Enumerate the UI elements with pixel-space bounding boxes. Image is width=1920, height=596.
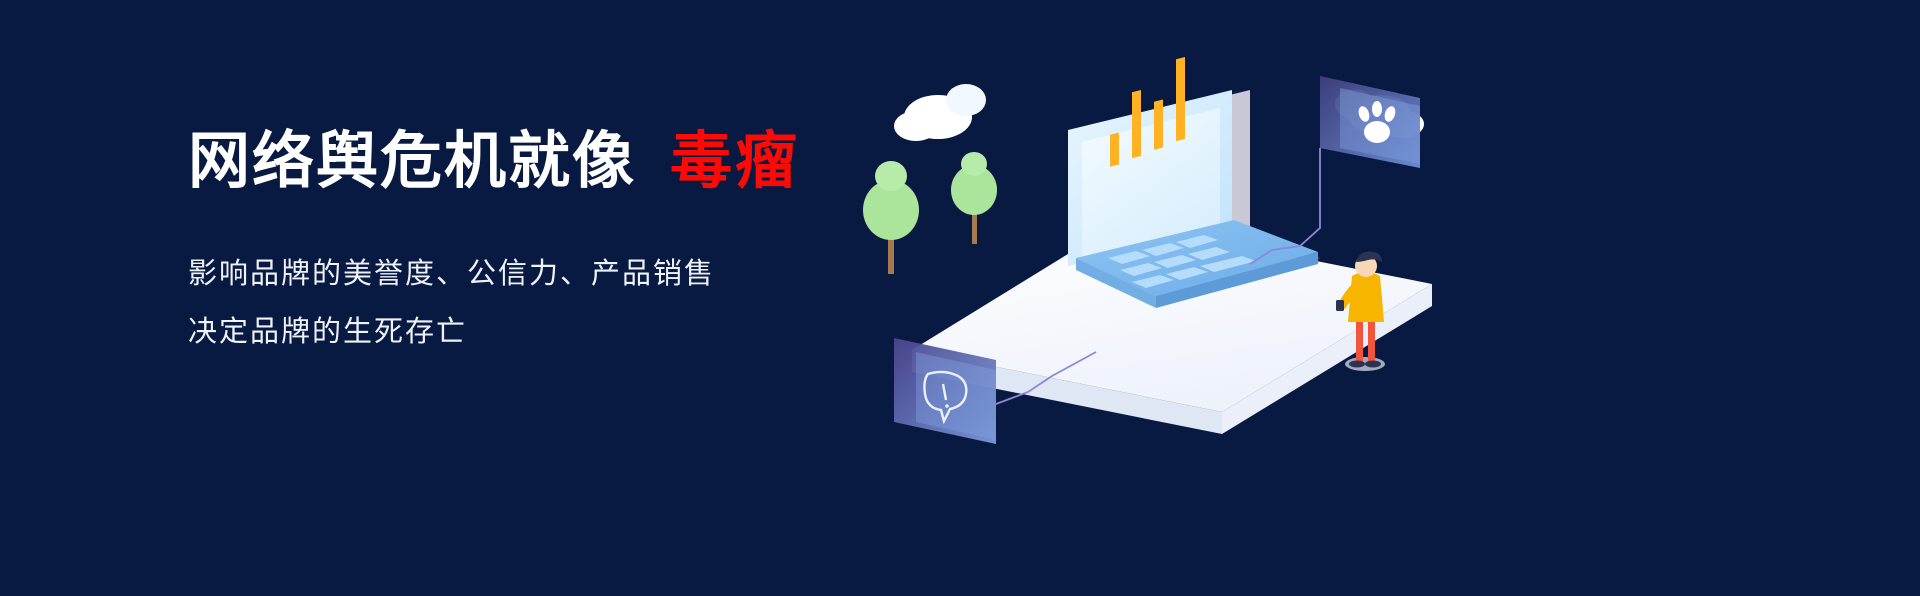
hero-banner: 网络舆危机就像 毒瘤 影响品牌的美誉度、公信力、产品销售 决定品牌的生死存亡 <box>0 0 1920 596</box>
banner-subtitle: 影响品牌的美誉度、公信力、产品销售 决定品牌的生死存亡 <box>188 245 888 361</box>
jacket <box>1348 272 1384 322</box>
phone-icon <box>1336 300 1344 311</box>
headline-accent-text: 毒瘤 <box>670 130 800 193</box>
subtitle-line-2: 决定品牌的生死存亡 <box>188 303 888 361</box>
hero-illustration <box>820 52 1460 472</box>
tree-small-icon <box>951 152 997 244</box>
subtitle-line-1: 影响品牌的美誉度、公信力、产品销售 <box>188 245 888 303</box>
leg-right <box>1368 320 1375 362</box>
headline-main-text: 网络舆危机就像 <box>188 130 636 193</box>
paw-logo-panel <box>1320 76 1420 168</box>
cloud-left-icon <box>894 84 986 141</box>
tree-large-icon <box>863 161 919 274</box>
page-title: 网络舆危机就像 毒瘤 <box>188 130 888 193</box>
banner-copy: 网络舆危机就像 毒瘤 影响品牌的美誉度、公信力、产品销售 决定品牌的生死存亡 <box>188 130 888 361</box>
leg-left <box>1356 320 1363 362</box>
